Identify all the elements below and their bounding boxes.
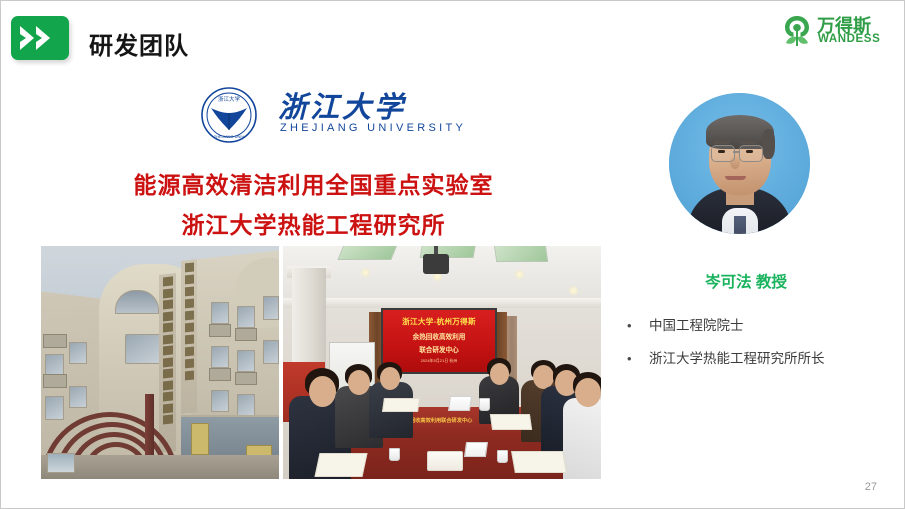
professor-portrait: [669, 93, 810, 234]
photo-institute-building: [41, 246, 279, 479]
header-badge: [11, 16, 69, 60]
university-name-cn: 浙江大学: [278, 84, 406, 126]
list-item: • 中国工程院院士: [627, 316, 872, 335]
svg-text:浙江大学: 浙江大学: [218, 95, 241, 103]
building-vertical-sign-2: [181, 259, 197, 414]
university-name-en: ZHEJIANG UNIVERSITY: [280, 122, 466, 134]
ceiling-projector: [423, 254, 449, 274]
professor-credentials: • 中国工程院院士 • 浙江大学热能工程研究所所长: [627, 316, 872, 382]
screen-line-4: 2024年5月21日 杭州: [383, 358, 495, 364]
lab-title-line-2: 浙江大学热能工程研究所: [1, 206, 626, 240]
screen-line-1: 浙江大学-杭州万得斯: [383, 316, 495, 327]
screen-line-3: 联合研发中心: [383, 344, 495, 354]
professor-name: 岑可法 教授: [646, 270, 846, 292]
screen-line-2: 余热回收高效利用: [383, 331, 495, 341]
photo-joint-center-meeting: 浙江大学-杭州万得斯 余热回收高效利用 联合研发中心 2024年5月21日 杭州…: [283, 246, 601, 479]
bullet-dot-icon: •: [627, 349, 649, 368]
lab-title-line-1: 能源高效清洁利用全国重点实验室: [1, 166, 626, 200]
svg-text:ZHEJIANG UNIV: ZHEJIANG UNIV: [214, 134, 245, 139]
bullet-dot-icon: •: [627, 316, 649, 335]
page-title: 研发团队: [89, 26, 189, 61]
slide-canvas: 研发团队 万得斯 WANDESS 浙江大学 ZHEJIANG UNIV: [0, 0, 905, 509]
list-item: • 浙江大学热能工程研究所所长: [627, 349, 872, 368]
photo-strip: 浙江大学-杭州万得斯 余热回收高效利用 联合研发中心 2024年5月21日 杭州…: [41, 246, 601, 479]
zhejiang-university-seal-icon: 浙江大学 ZHEJIANG UNIV: [200, 86, 258, 149]
wandess-leaf-logo-icon: [780, 14, 814, 53]
university-logo: 浙江大学 ZHEJIANG UNIV 浙江大学 ZHEJIANG UNIVERS…: [200, 86, 426, 144]
credential-text: 浙江大学热能工程研究所所长: [649, 349, 872, 368]
brand-logo: 万得斯 WANDESS: [780, 11, 890, 51]
brand-name-en: WANDESS: [818, 33, 880, 45]
credential-text: 中国工程院院士: [649, 316, 872, 335]
page-number: 27: [865, 481, 877, 493]
